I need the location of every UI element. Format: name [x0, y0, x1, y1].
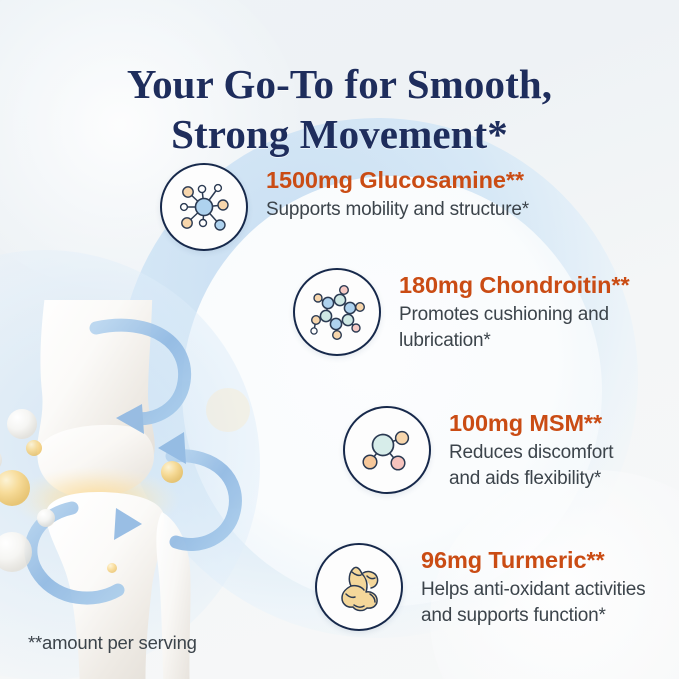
bubble [0, 532, 32, 572]
turmeric-text: 96mg Turmeric** Helps anti-oxidant activ… [421, 543, 645, 629]
gold-bubble [107, 563, 117, 573]
description-line-2: and aids flexibility* [449, 466, 613, 492]
motion-arrow-right [158, 432, 235, 544]
description-line-1: Reduces discomfort [449, 440, 613, 466]
motion-arrow-bottom [31, 508, 142, 598]
soft-gold-blur [206, 388, 250, 432]
femoral-condyle [38, 425, 154, 498]
description-line-1: Supports mobility and structure* [266, 197, 529, 223]
glucosamine-text: 1500mg Glucosamine** Supports mobility a… [266, 163, 529, 223]
cartilage-glow [12, 466, 180, 534]
ingredient-row-glucosamine: 1500mg Glucosamine** Supports mobility a… [160, 163, 529, 251]
msm-molecule-icon [356, 419, 418, 481]
headline-line-1: Your Go-To for Smooth, [0, 60, 679, 109]
gold-bubble [0, 470, 30, 506]
description-line-1: Helps anti-oxidant activities [421, 577, 645, 603]
chondroitin-molecule-icon [306, 281, 368, 343]
ingredient-name: 100mg MSM** [449, 410, 613, 437]
knee-joint-illustration [0, 300, 276, 679]
motion-arrow-top [96, 325, 185, 434]
ingredient-description: Reduces discomfort and aids flexibility* [449, 440, 613, 491]
page-title: Your Go-To for Smooth, Strong Movement* [0, 60, 679, 158]
description-line-2: and supports function* [421, 603, 645, 629]
ingredient-name: 1500mg Glucosamine** [266, 167, 529, 194]
headline-line-2: Strong Movement* [0, 110, 679, 159]
ingredient-description: Promotes cushioning and lubrication* [399, 302, 630, 353]
infographic-canvas: Your Go-To for Smooth, Strong Movement* [0, 0, 679, 679]
description-line-2: lubrication* [399, 328, 630, 354]
ingredient-row-msm: 100mg MSM** Reduces discomfort and aids … [343, 406, 613, 494]
msm-icon-circle [343, 406, 431, 494]
footnote-amount-per-serving: **amount per serving [28, 632, 197, 654]
bubble [37, 509, 55, 527]
gold-bubble [26, 440, 42, 456]
ingredient-description: Supports mobility and structure* [266, 197, 529, 223]
turmeric-icon-circle [315, 543, 403, 631]
chondroitin-icon-circle [293, 268, 381, 356]
ingredient-name: 96mg Turmeric** [421, 547, 645, 574]
chondroitin-text: 180mg Chondroitin** Promotes cushioning … [399, 268, 630, 354]
bubble [0, 448, 2, 472]
ingredient-row-chondroitin: 180mg Chondroitin** Promotes cushioning … [293, 268, 630, 356]
gold-bubble [161, 461, 183, 483]
ingredient-name: 180mg Chondroitin** [399, 272, 630, 299]
femur-bone [37, 300, 155, 496]
ingredient-row-turmeric: 96mg Turmeric** Helps anti-oxidant activ… [315, 543, 645, 631]
background-blue-left [0, 250, 260, 679]
ingredient-description: Helps anti-oxidant activities and suppor… [421, 577, 645, 628]
bubble [7, 409, 37, 439]
glucosamine-icon-circle [160, 163, 248, 251]
description-line-1: Promotes cushioning and [399, 302, 630, 328]
glucosamine-molecule-icon [173, 176, 235, 238]
msm-text: 100mg MSM** Reduces discomfort and aids … [449, 406, 613, 492]
turmeric-root-icon [330, 558, 388, 616]
